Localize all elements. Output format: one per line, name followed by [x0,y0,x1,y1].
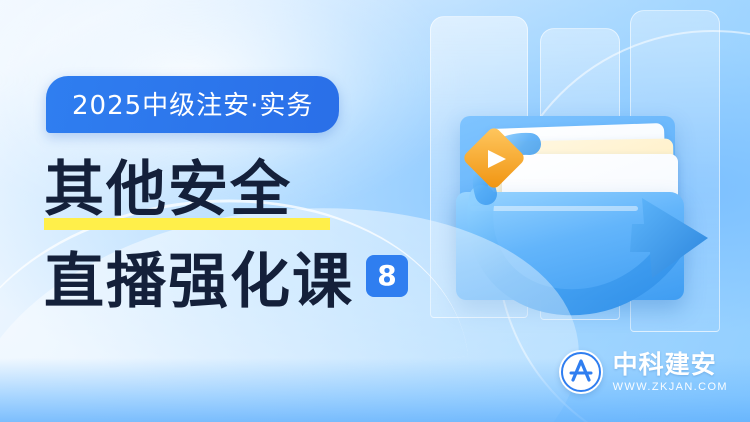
episode-number-badge: 8 [366,255,408,297]
headline-line-1-text: 其他安全 [44,155,292,225]
course-tag-badge: 2025中级注安·实务 [46,76,339,133]
headline-line-2-text: 直播强化课 [44,252,354,312]
brand-texts: 中科建安 WWW.ZKJAN.COM [613,351,728,394]
zkjian-logo-icon [559,350,603,394]
headline-line-2: 直播强化课 8 [44,252,408,312]
brand-name: 中科建安 [613,351,728,379]
course-poster: 2025中级注安·实务 其他安全 直播强化课 8 中科建安 WWW.ZKJAN.… [0,0,750,422]
play-diamond-icon [462,126,528,192]
brand-url: WWW.ZKJAN.COM [613,381,728,393]
headline-line-1: 其他安全 [44,160,292,220]
brand-logo: 中科建安 WWW.ZKJAN.COM [559,350,728,394]
